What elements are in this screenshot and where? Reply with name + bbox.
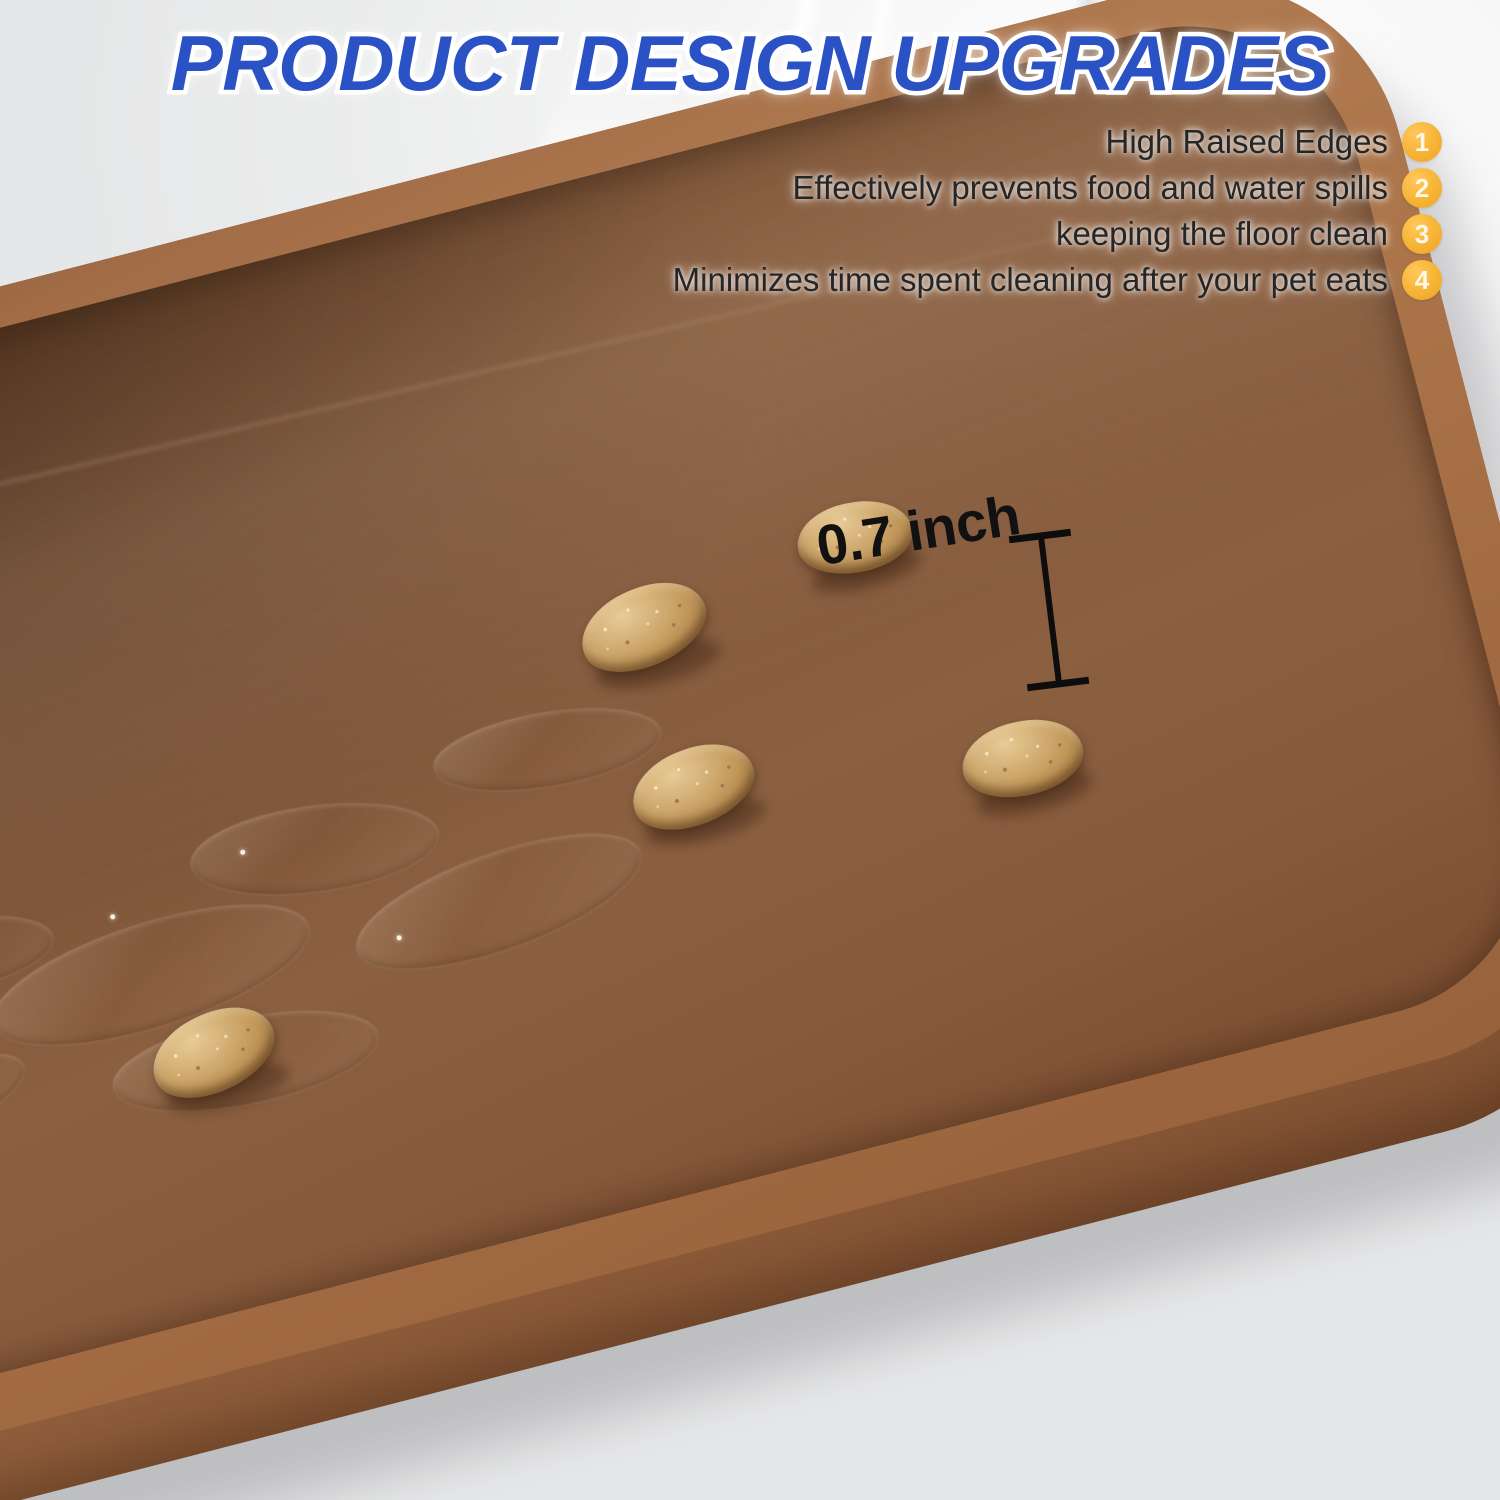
page-title: PRODUCT DESIGN UPGRADES (0, 18, 1500, 109)
water-puddle (0, 1034, 36, 1172)
water-puddle (185, 790, 444, 908)
feature-number-badge: 4 (1402, 260, 1442, 300)
feature-label: Minimizes time spent cleaning after your… (673, 261, 1388, 299)
dimension-vertical-line (1038, 536, 1062, 686)
feature-label: Effectively prevents food and water spil… (792, 169, 1388, 207)
feature-item: keeping the floor clean 3 (1056, 214, 1442, 254)
feature-number-badge: 3 (1402, 214, 1442, 254)
feature-item: High Raised Edges 1 (1106, 122, 1443, 162)
feature-item: Minimizes time spent cleaning after your… (673, 260, 1442, 300)
feature-label: High Raised Edges (1106, 123, 1389, 161)
feature-label: keeping the floor clean (1056, 215, 1388, 253)
water-puddle (428, 694, 667, 805)
water-puddle (341, 806, 656, 997)
water-sparkle (110, 914, 116, 920)
feature-item: Effectively prevents food and water spil… (792, 168, 1442, 208)
water-puddle (0, 902, 59, 1009)
water-sparkle (396, 935, 402, 941)
feature-list: High Raised Edges 1 Effectively prevents… (673, 122, 1442, 300)
feature-number-badge: 1 (1402, 122, 1442, 162)
feature-number-badge: 2 (1402, 168, 1442, 208)
product-feature-image: PRODUCT DESIGN UPGRADES High Raised Edge… (0, 0, 1500, 1500)
water-sparkle (240, 849, 246, 855)
